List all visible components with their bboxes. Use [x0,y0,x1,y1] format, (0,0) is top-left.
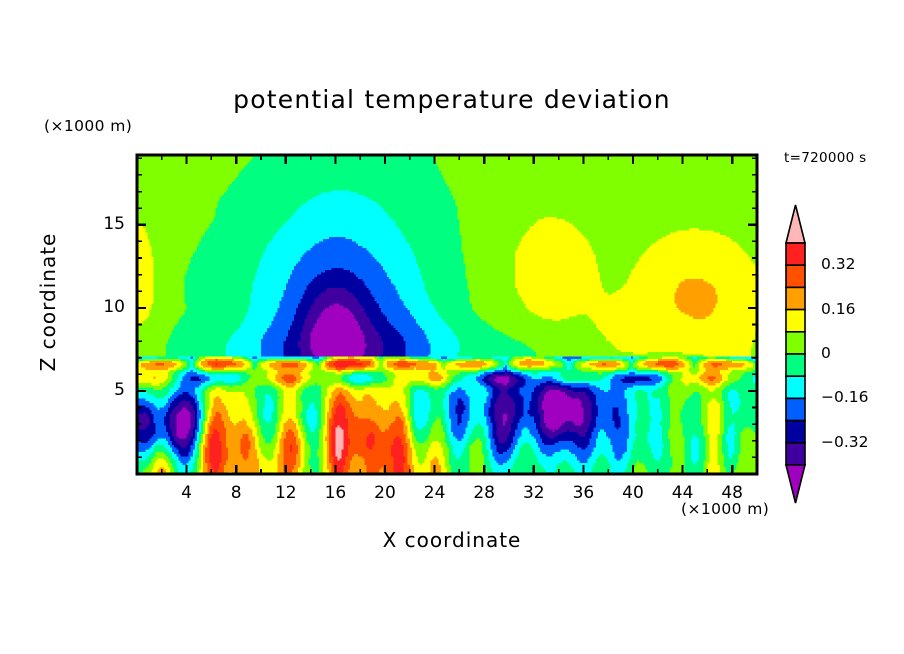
colorbar-band [786,332,805,354]
x-tick-label: 8 [214,483,258,503]
colorbar-band [786,354,805,376]
colorbar-band [786,265,805,287]
colorbar-tick-label: −0.32 [821,433,869,451]
y-tick-label: 5 [89,380,125,400]
y-tick-label: 15 [89,214,125,234]
colorbar-band [786,443,805,465]
colorbar-bottom-arrow [786,465,805,503]
colorbar-band [786,421,805,443]
x-tick-label: 16 [313,483,357,503]
x-tick-label: 12 [264,483,308,503]
x-tick-label: 40 [611,483,655,503]
colorbar-tick-label: 0.16 [821,300,856,318]
colorbar-band [786,243,805,265]
colorbar-band [786,310,805,332]
x-tick-label: 44 [661,483,705,503]
x-tick-label: 24 [413,483,457,503]
colorbar-band [786,376,805,398]
x-tick-label: 28 [462,483,506,503]
x-tick-label: 32 [512,483,556,503]
contour-plot [0,0,904,654]
x-tick-label: 36 [561,483,605,503]
colorbar-band [786,398,805,420]
colorbar-tick-label: −0.16 [821,388,869,406]
colorbar-band [786,287,805,309]
x-tick-label: 4 [165,483,209,503]
x-tick-label: 48 [710,483,754,503]
y-tick-label: 10 [89,297,125,317]
colorbar-tick-label: 0.32 [821,255,856,273]
x-tick-label: 20 [363,483,407,503]
colorbar-tick-label: 0 [821,344,831,362]
colorbar-top-arrow [786,205,805,243]
